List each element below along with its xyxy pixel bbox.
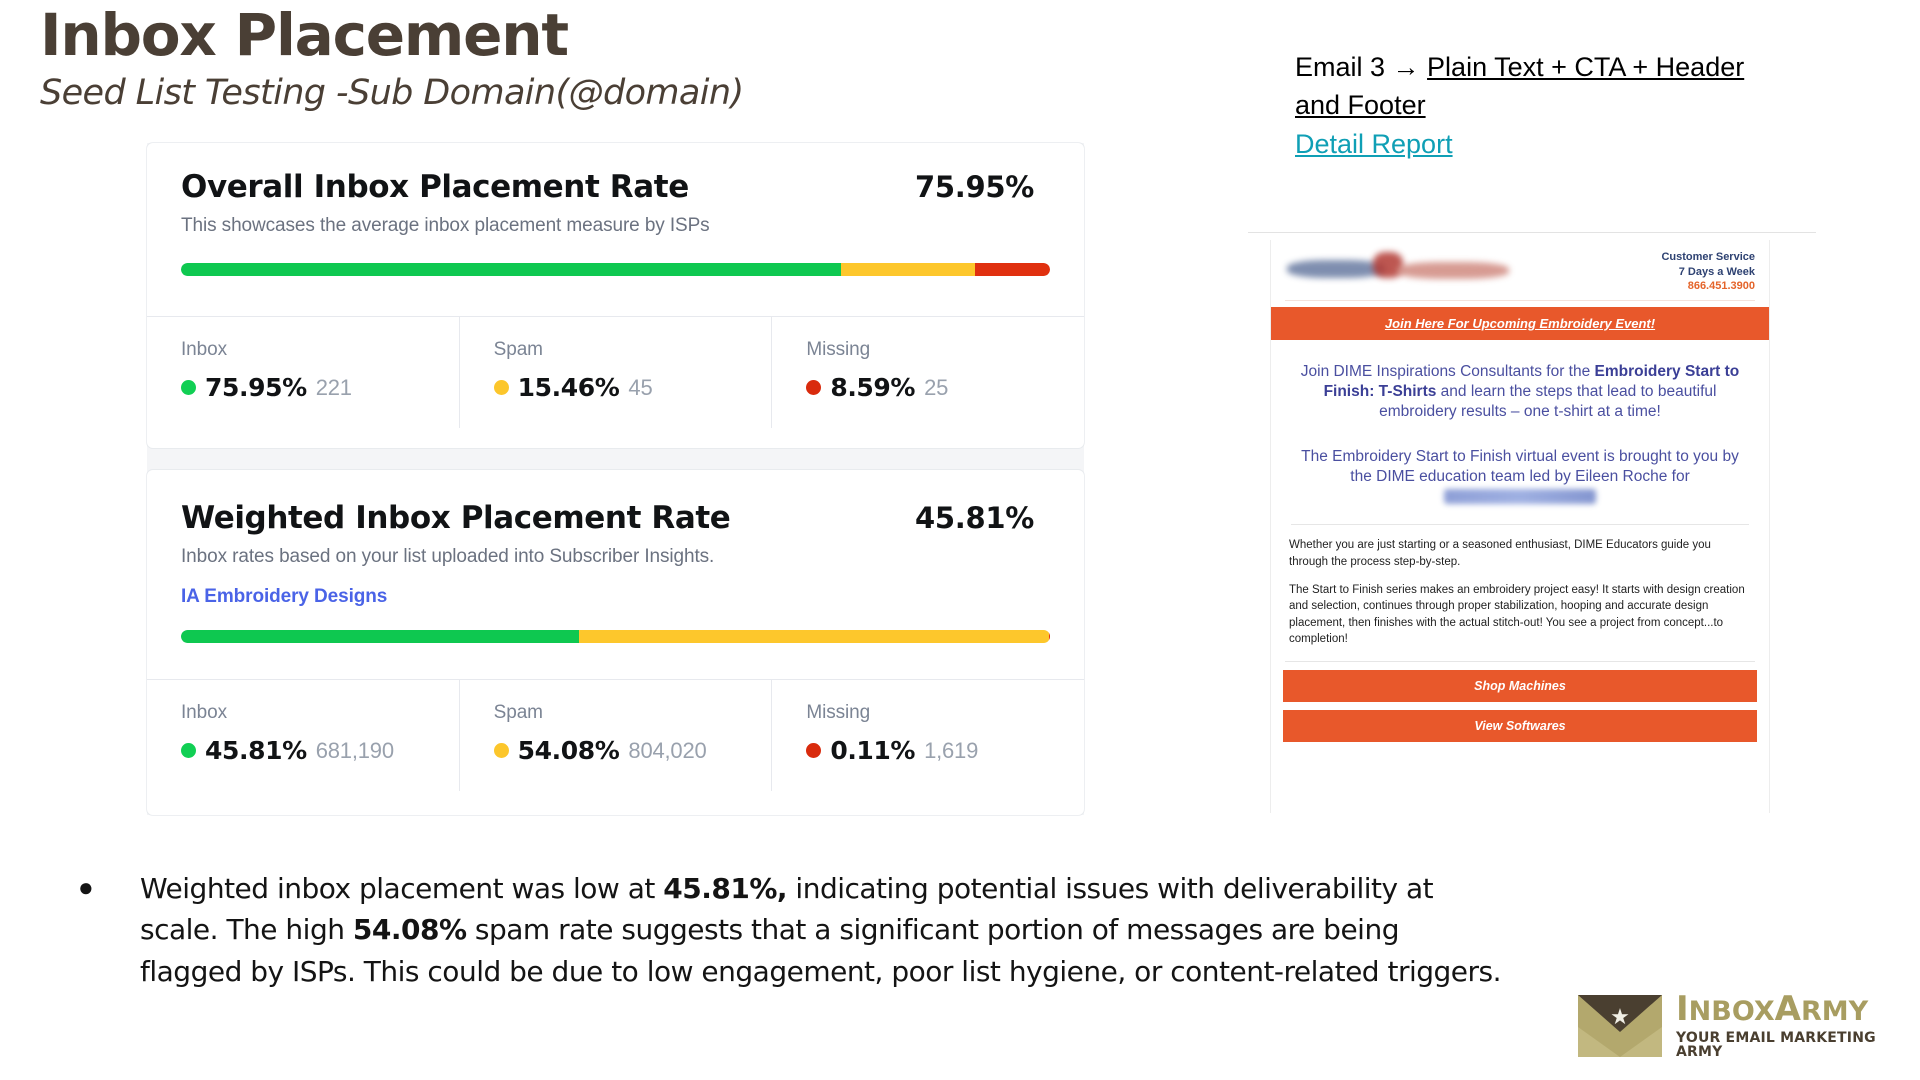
email-cta-view-softwares[interactable]: View Softwares bbox=[1283, 710, 1757, 742]
page-subtitle: Seed List Testing -Sub Domain(@domain) bbox=[40, 73, 744, 113]
overall-card-value: 75.95% bbox=[915, 170, 1050, 204]
overall-placement-card: Overall Inbox Placement Rate 75.95% This… bbox=[147, 143, 1084, 448]
stat-missing: Missing 8.59% 25 bbox=[772, 317, 1084, 428]
status-dot-red-icon bbox=[806, 743, 821, 758]
slide-root: Inbox Placement Seed List Testing -Sub D… bbox=[0, 0, 1920, 1080]
email-header: Customer Service 7 Days a Week 866.451.3… bbox=[1271, 240, 1769, 298]
overall-progress-bar bbox=[181, 263, 1050, 276]
stat-inbox: Inbox 45.81% 681,190 bbox=[147, 680, 460, 791]
star-icon: ★ bbox=[1610, 1006, 1630, 1028]
bullet-bold-2: 54.08% bbox=[353, 913, 467, 946]
email-cta-shop-machines[interactable]: Shop Machines bbox=[1283, 670, 1757, 702]
stat-label: Missing bbox=[806, 702, 1084, 724]
stat-percent: 54.08% bbox=[518, 736, 620, 765]
stat-label: Inbox bbox=[181, 702, 459, 724]
bullet-marker-icon: ● bbox=[78, 868, 140, 992]
inboxarmy-wordmark: INBOXARMY YOUR EMAIL MARKETING ARMY bbox=[1676, 992, 1920, 1059]
email-preview-divider bbox=[1248, 232, 1816, 233]
stat-label: Spam bbox=[494, 339, 772, 361]
email-hero2-line1: The Embroidery Start to Finish virtual e… bbox=[1301, 448, 1739, 485]
weighted-card-description: Inbox rates based on your list uploaded … bbox=[147, 536, 1084, 568]
email-hero-text: Join DIME Inspirations Consultants for t… bbox=[1271, 340, 1769, 423]
overall-card-description: This showcases the average inbox placeme… bbox=[147, 205, 1084, 237]
brand-i: I bbox=[1676, 989, 1689, 1029]
stat-count: 45 bbox=[628, 375, 652, 401]
email-body-paragraph-2: The Start to Finish series makes an embr… bbox=[1289, 582, 1751, 647]
email-body: Whether you are just starting or a seaso… bbox=[1271, 525, 1769, 647]
customer-service-line1: Customer Service bbox=[1661, 250, 1755, 265]
stat-percent: 15.46% bbox=[518, 373, 620, 402]
stat-label: Missing bbox=[806, 339, 1084, 361]
email-preview: Customer Service 7 Days a Week 866.451.3… bbox=[1270, 240, 1770, 813]
weighted-placement-card: Weighted Inbox Placement Rate 45.81% Inb… bbox=[147, 470, 1084, 815]
overall-stats-row: Inbox 75.95% 221 Spam 15.46% 45 bbox=[147, 316, 1084, 428]
email-variant-prefix: Email 3 → bbox=[1295, 52, 1427, 82]
insight-bullet: ● Weighted inbox placement was low at 45… bbox=[78, 868, 1508, 992]
email-hero-secondary: The Embroidery Start to Finish virtual e… bbox=[1271, 423, 1769, 508]
weighted-card-value: 45.81% bbox=[915, 501, 1050, 535]
stat-spam: Spam 15.46% 45 bbox=[460, 317, 773, 428]
brand-rmy: RMY bbox=[1801, 996, 1868, 1027]
email-footer-divider bbox=[1285, 661, 1755, 662]
overall-bar-segment-inbox bbox=[181, 263, 841, 276]
stat-count: 1,619 bbox=[924, 738, 978, 764]
stat-percent: 8.59% bbox=[830, 373, 915, 402]
stat-value-row: 0.11% 1,619 bbox=[806, 736, 1084, 765]
weighted-progress-bar bbox=[181, 630, 1050, 643]
weighted-bar-segment-missing bbox=[1049, 630, 1050, 643]
stat-inbox: Inbox 75.95% 221 bbox=[147, 317, 460, 428]
title-block: Inbox Placement Seed List Testing -Sub D… bbox=[40, 4, 744, 113]
stat-value-row: 15.46% 45 bbox=[494, 373, 772, 402]
stat-percent: 0.11% bbox=[830, 736, 915, 765]
customer-service-phone: 866.451.3900 bbox=[1661, 279, 1755, 294]
stat-missing: Missing 0.11% 1,619 bbox=[772, 680, 1084, 791]
stat-value-row: 8.59% 25 bbox=[806, 373, 1084, 402]
brand-a: A bbox=[1775, 989, 1801, 1029]
status-dot-green-icon bbox=[181, 380, 196, 395]
weighted-bar-wrap bbox=[147, 630, 1084, 643]
weighted-card-title: Weighted Inbox Placement Rate bbox=[181, 500, 730, 536]
weighted-bar-segment-spam bbox=[579, 630, 1049, 643]
email-hero-line1: Join DIME Inspirations Consultants for t… bbox=[1301, 363, 1590, 380]
email-event-banner[interactable]: Join Here For Upcoming Embroidery Event! bbox=[1271, 307, 1769, 340]
stat-value-row: 45.81% 681,190 bbox=[181, 736, 459, 765]
inbox-placement-report: Overall Inbox Placement Rate 75.95% This… bbox=[147, 143, 1084, 815]
weighted-stats-row: Inbox 45.81% 681,190 Spam 54.08% 804,020 bbox=[147, 679, 1084, 791]
overall-bar-segment-missing bbox=[975, 263, 1050, 276]
page-title: Inbox Placement bbox=[40, 4, 744, 67]
brand-nbox: NBOX bbox=[1689, 996, 1775, 1027]
stat-value-row: 54.08% 804,020 bbox=[494, 736, 772, 765]
email-blurred-domain bbox=[1444, 489, 1596, 504]
stat-spam: Spam 54.08% 804,020 bbox=[460, 680, 773, 791]
email-body-paragraph-1: Whether you are just starting or a seaso… bbox=[1289, 537, 1751, 570]
weighted-card-header: Weighted Inbox Placement Rate 45.81% bbox=[147, 470, 1084, 536]
status-dot-yellow-icon bbox=[494, 743, 509, 758]
stat-count: 681,190 bbox=[316, 738, 394, 764]
overall-bar-segment-spam bbox=[841, 263, 975, 276]
email-logo-divider bbox=[1285, 300, 1755, 301]
status-dot-red-icon bbox=[806, 380, 821, 395]
stat-percent: 75.95% bbox=[205, 373, 307, 402]
bullet-bold-1: 45.81%, bbox=[663, 872, 787, 905]
bullet-part-1: Weighted inbox placement was low at bbox=[140, 872, 663, 905]
overall-bar-wrap bbox=[147, 263, 1084, 276]
brand-name: INBOXARMY bbox=[1676, 992, 1920, 1026]
overall-card-title: Overall Inbox Placement Rate bbox=[181, 169, 689, 205]
stat-count: 25 bbox=[924, 375, 948, 401]
inboxarmy-logo: ★ INBOXARMY YOUR EMAIL MARKETING ARMY bbox=[1578, 992, 1920, 1059]
weighted-card-list-link[interactable]: IA Embroidery Designs bbox=[147, 568, 1084, 608]
email-customer-service: Customer Service 7 Days a Week 866.451.3… bbox=[1661, 250, 1755, 294]
stat-value-row: 75.95% 221 bbox=[181, 373, 459, 402]
overall-card-header: Overall Inbox Placement Rate 75.95% bbox=[147, 143, 1084, 205]
stat-count: 221 bbox=[316, 375, 352, 401]
stat-count: 804,020 bbox=[628, 738, 706, 764]
stat-label: Inbox bbox=[181, 339, 459, 361]
email-brand-logo-icon bbox=[1285, 250, 1500, 292]
stat-percent: 45.81% bbox=[205, 736, 307, 765]
envelope-icon: ★ bbox=[1578, 995, 1662, 1057]
email-variant-heading: Email 3 → Plain Text + CTA + Header and … bbox=[1295, 48, 1765, 163]
brand-tagline: YOUR EMAIL MARKETING ARMY bbox=[1676, 1031, 1920, 1059]
status-dot-yellow-icon bbox=[494, 380, 509, 395]
status-dot-green-icon bbox=[181, 743, 196, 758]
detail-report-link[interactable]: Detail Report bbox=[1295, 125, 1453, 163]
stat-label: Spam bbox=[494, 702, 772, 724]
insight-bullet-text: Weighted inbox placement was low at 45.8… bbox=[140, 868, 1508, 992]
customer-service-line2: 7 Days a Week bbox=[1661, 265, 1755, 280]
weighted-bar-segment-inbox bbox=[181, 630, 579, 643]
